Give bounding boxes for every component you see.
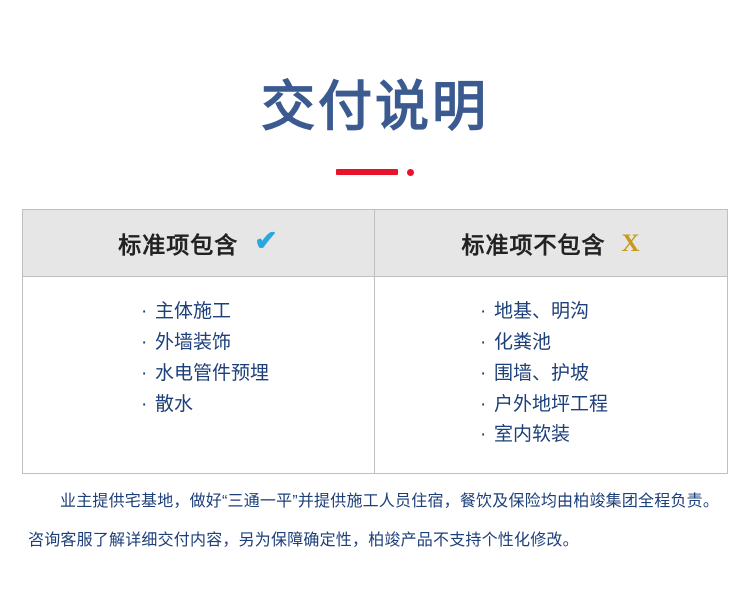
list-item: ·化粪池	[480, 328, 727, 359]
list-item: ·室内软装	[480, 420, 727, 451]
bullet: ·	[480, 390, 494, 421]
bullet: ·	[480, 297, 494, 328]
bullet: ·	[480, 420, 494, 451]
page-title: 交付说明	[0, 0, 750, 137]
bullet: ·	[480, 328, 494, 359]
delivery-instructions-page: 交付说明 标准项包含 ✔ 标准项不包含 X ·主体施工 ·外墙装饰 ·水电管件预…	[0, 0, 750, 597]
list-item-label: 室内软装	[494, 424, 570, 445]
list-item-label: 主体施工	[155, 301, 231, 322]
bullet: ·	[480, 359, 494, 390]
table-header-included: 标准项包含 ✔	[23, 210, 375, 276]
list-item: ·围墙、护坡	[480, 359, 727, 390]
divider-dot	[407, 169, 414, 176]
note-line-1: 业主提供宅基地，做好“三通一平”并提供施工人员住宿，餐饮及保险均由柏竣集团全程负…	[28, 490, 722, 515]
note-line-2: 咨询客服了解详细交付内容，另为保障确定性，柏竣产品不支持个性化修改。	[28, 529, 722, 554]
included-cell: ·主体施工 ·外墙装饰 ·水电管件预埋 ·散水	[23, 277, 375, 473]
excluded-cell: ·地基、明沟 ·化粪池 ·围墙、护坡 ·户外地坪工程 ·室内软装	[375, 277, 727, 473]
scope-table: 标准项包含 ✔ 标准项不包含 X ·主体施工 ·外墙装饰 ·水电管件预埋 ·散水…	[22, 209, 728, 474]
list-item: ·散水	[141, 390, 374, 421]
table-header-row: 标准项包含 ✔ 标准项不包含 X	[23, 210, 727, 277]
list-item-label: 化粪池	[494, 332, 551, 353]
list-item: ·户外地坪工程	[480, 390, 727, 421]
divider-bar	[336, 169, 398, 175]
list-item-label: 外墙装饰	[155, 332, 231, 353]
table-header-excluded: 标准项不包含 X	[375, 210, 727, 276]
list-item-label: 围墙、护坡	[494, 363, 589, 384]
list-item: ·外墙装饰	[141, 328, 374, 359]
x-icon: X	[621, 231, 640, 256]
list-item: ·水电管件预埋	[141, 359, 374, 390]
excluded-list: ·地基、明沟 ·化粪池 ·围墙、护坡 ·户外地坪工程 ·室内软装	[375, 297, 727, 451]
notes-section: 业主提供宅基地，做好“三通一平”并提供施工人员住宿，餐饮及保险均由柏竣集团全程负…	[0, 474, 750, 554]
table-body-row: ·主体施工 ·外墙装饰 ·水电管件预埋 ·散水 ·地基、明沟 ·化粪池 ·围墙、…	[23, 277, 727, 474]
list-item-label: 水电管件预埋	[155, 363, 269, 384]
bullet: ·	[141, 390, 155, 421]
bullet: ·	[141, 328, 155, 359]
list-item: ·主体施工	[141, 297, 374, 328]
bullet: ·	[141, 359, 155, 390]
list-item-label: 地基、明沟	[494, 301, 589, 322]
list-item-label: 户外地坪工程	[494, 394, 608, 415]
table-header-excluded-label: 标准项不包含	[461, 226, 605, 260]
title-divider	[0, 167, 750, 177]
check-icon: ✔	[254, 227, 278, 255]
included-list: ·主体施工 ·外墙装饰 ·水电管件预埋 ·散水	[23, 297, 374, 420]
table-header-included-label: 标准项包含	[118, 226, 238, 260]
list-item-label: 散水	[155, 394, 193, 415]
list-item: ·地基、明沟	[480, 297, 727, 328]
bullet: ·	[141, 297, 155, 328]
